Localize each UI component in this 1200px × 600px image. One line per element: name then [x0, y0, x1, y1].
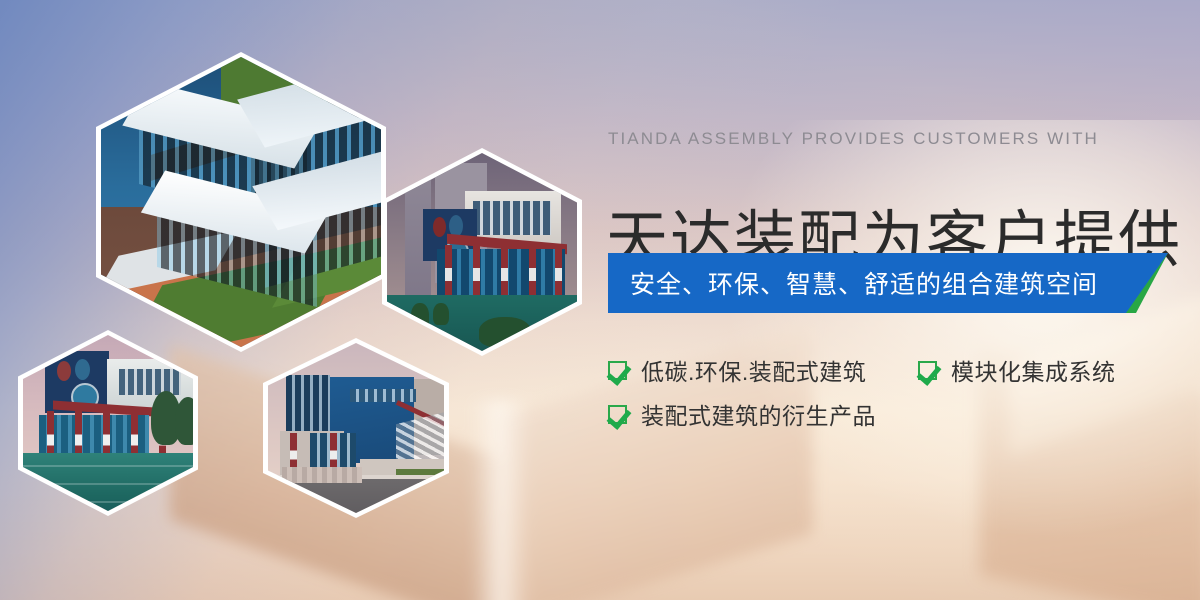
feature-item-modular-system[interactable]: 模块化集成系统: [918, 353, 1116, 387]
feature-row: 低碳.环保.装配式建筑 模块化集成系统: [608, 348, 1168, 392]
gallery-hexagon-dusk-modular-villa[interactable]: [382, 148, 582, 356]
feature-label: 模块化集成系统: [951, 353, 1116, 387]
feature-item-low-carbon[interactable]: 低碳.环保.装配式建筑: [608, 353, 918, 387]
check-box-icon: [608, 361, 627, 380]
eyebrow-tagline: TIANDA ASSEMBLY PROVIDES CUSTOMERS WITH: [608, 129, 1099, 149]
gallery-hexagon-waterfront-modular-villa[interactable]: [18, 330, 198, 516]
feature-item-derivative-products[interactable]: 装配式建筑的衍生产品: [608, 397, 918, 431]
gallery-hexagon-blue-modular-building[interactable]: [263, 338, 449, 518]
feature-label: 低碳.环保.装配式建筑: [641, 353, 866, 387]
feature-row: 装配式建筑的衍生产品: [608, 392, 1168, 436]
background-light-glow: [720, 120, 1200, 540]
feature-list: 低碳.环保.装配式建筑 模块化集成系统 装配式建筑的衍生产品: [608, 348, 1168, 436]
promotional-banner: TIANDA ASSEMBLY PROVIDES CUSTOMERS WITH …: [0, 0, 1200, 600]
gallery-hexagon-aerial-modular-complex[interactable]: [96, 52, 386, 352]
highlight-bar: 安全、环保、智慧、舒适的组合建筑空间: [608, 253, 1168, 313]
feature-label: 装配式建筑的衍生产品: [641, 397, 876, 431]
check-box-icon: [608, 405, 627, 424]
highlight-bar-label: 安全、环保、智慧、舒适的组合建筑空间: [630, 265, 1098, 301]
check-box-icon: [918, 361, 937, 380]
